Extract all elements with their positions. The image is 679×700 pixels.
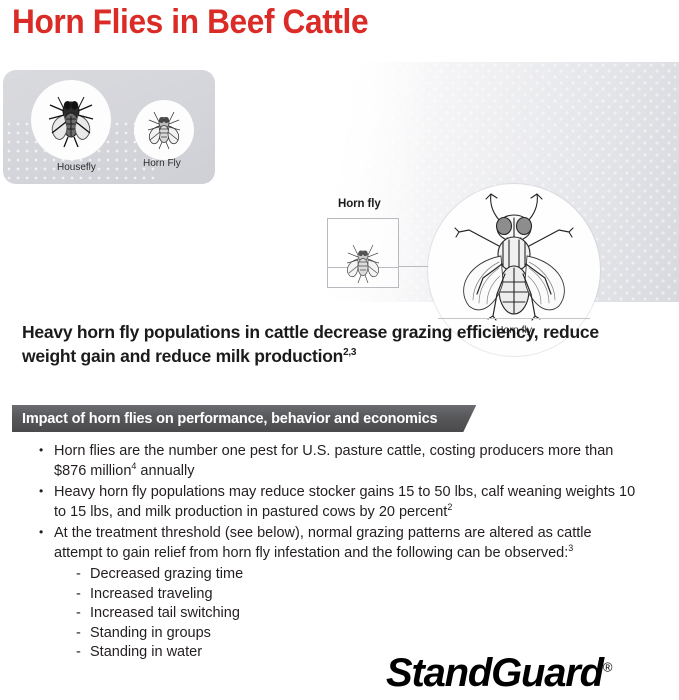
figure-band: Housefly Horn Fly Horn fly <box>0 62 679 302</box>
housefly-label: Housefly <box>57 162 96 173</box>
bullet-text: Heavy horn fly populations may reduce st… <box>54 484 635 520</box>
callout-fly-thumb <box>338 242 388 291</box>
subheading: Heavy horn fly populations in cattle dec… <box>22 320 652 368</box>
list-item: Heavy horn fly populations may reduce st… <box>36 482 636 522</box>
list-item: At the treatment threshold (see below), … <box>36 523 636 663</box>
fly-comparison-panel: Housefly Horn Fly <box>3 70 215 184</box>
hornfly-label: Horn Fly <box>143 158 181 169</box>
section-banner: Impact of horn flies on performance, beh… <box>12 405 476 432</box>
list-item: Increased traveling <box>74 585 636 605</box>
list-item: Increased tail switching <box>74 604 636 624</box>
impact-bullet-list: Horn flies are the number one pest for U… <box>36 441 636 664</box>
bullet-superscript: 3 <box>568 543 573 553</box>
subheading-superscript: 2,3 <box>343 347 356 358</box>
housefly-icon <box>40 89 102 151</box>
standguard-logo: StandGuard® <box>386 652 613 694</box>
horn-fly-magnified-icon <box>439 190 589 322</box>
callout-source-box <box>327 218 399 288</box>
magnified-fly-illustration <box>439 190 589 327</box>
horn-fly-small-icon <box>338 242 388 286</box>
housefly-circle <box>31 80 111 160</box>
list-item: Horn flies are the number one pest for U… <box>36 441 636 481</box>
bullet-superscript: 2 <box>447 502 452 512</box>
page-title: Horn Flies in Beef Cattle <box>12 2 368 42</box>
hornfly-circle <box>134 100 194 160</box>
list-item: Standing in groups <box>74 624 636 644</box>
list-item: Decreased grazing time <box>74 565 636 585</box>
subheading-text: Heavy horn fly populations in cattle dec… <box>22 322 599 366</box>
horn-fly-icon <box>141 107 187 153</box>
standguard-logo-text: StandGuard <box>386 651 603 695</box>
section-banner-bar: Impact of horn flies on performance, beh… <box>12 405 476 432</box>
callout-label: Horn fly <box>338 198 381 210</box>
bullet-text-tail: annually <box>136 463 194 479</box>
magnified-caption-rule <box>438 318 590 319</box>
bullet-text: At the treatment threshold (see below), … <box>54 525 592 561</box>
section-banner-label: Impact of horn flies on performance, beh… <box>22 410 437 427</box>
registered-trademark-icon: ® <box>603 660 613 675</box>
observation-sub-list: Decreased grazing time Increased traveli… <box>74 565 636 663</box>
